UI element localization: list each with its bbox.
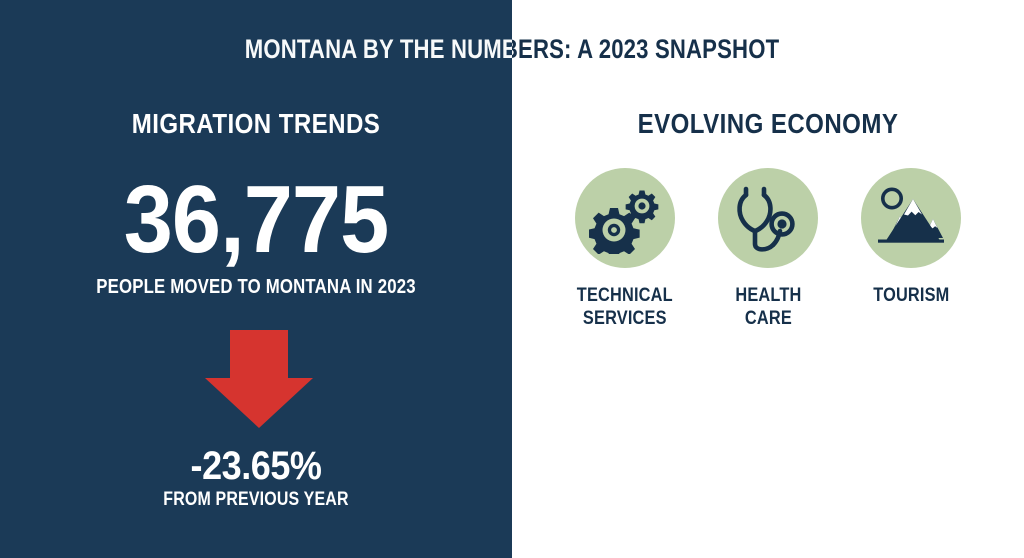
migration-count-caption: PEOPLE MOVED TO MONTANA IN 2023 (41, 276, 471, 299)
stethoscope-icon (718, 168, 818, 268)
page-title-left-clip: MONTANA BY THE NUMBERS: A 2023 SNAPSHOT (0, 28, 512, 70)
sector-list: TECHNICAL SERVICES (560, 168, 976, 348)
down-arrow-icon (205, 330, 313, 428)
sector-label-tourism: TOURISM (873, 284, 949, 307)
infographic-slide: MONTANA BY THE NUMBERS: A 2023 SNAPSHOT … (0, 0, 1024, 558)
percent-change-caption: FROM PREVIOUS YEAR (41, 489, 471, 511)
gears-icon (575, 168, 675, 268)
migration-count-value: 36,775 (20, 170, 491, 270)
mountain-icon (861, 168, 961, 268)
page-title: MONTANA BY THE NUMBERS: A 2023 SNAPSHOT … (0, 28, 1024, 70)
evolving-economy-heading: EVOLVING ECONOMY (548, 108, 988, 140)
sector-tourism: TOURISM (846, 168, 976, 307)
sector-technical-services: TECHNICAL SERVICES (560, 168, 690, 330)
page-title-text-light: MONTANA BY THE NUMBERS: A 2023 SNAPSHOT (92, 28, 512, 70)
migration-trends-heading: MIGRATION TRENDS (36, 108, 476, 140)
sector-label-technical-services: TECHNICAL SERVICES (577, 284, 673, 330)
percent-change-value: -23.65% (26, 444, 487, 489)
sector-label-health-care: HEALTH CARE (735, 284, 801, 330)
sector-health-care: HEALTH CARE (703, 168, 833, 330)
